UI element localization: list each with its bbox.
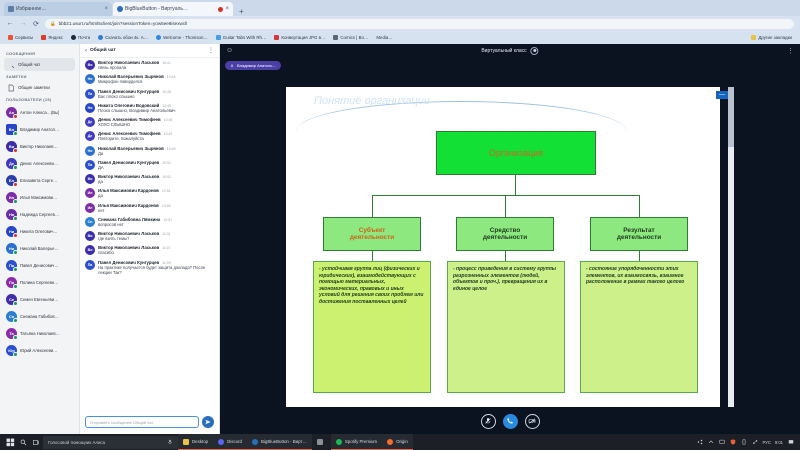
reload-icon[interactable]: ⟳	[32, 20, 40, 28]
chat-message-text: Повторите, пожалуйста	[98, 136, 214, 141]
chat-message-time: 10:45	[162, 90, 171, 94]
users-header: ПОЛЬЗОВАТЕЛИ (15)	[6, 97, 75, 102]
bookmark-item[interactable]: Яндекс	[37, 35, 67, 40]
avatar: Ни	[6, 243, 17, 254]
meeting-title-group: Виртуальный класс	[481, 47, 538, 55]
chat-message: НиНиколай Валерьевич Зырянов10:44Микрофо…	[85, 74, 214, 84]
user-name: Надежда Сергеев…	[20, 212, 59, 217]
taskbar-app-unlabeled[interactable]	[312, 434, 331, 450]
diagram-branch-node-3: Результатдеятельности	[590, 217, 688, 251]
chat-message-text: ХОХО СЛЫШНО	[98, 122, 214, 127]
meeting-controls	[220, 408, 800, 434]
monitor-icon[interactable]	[718, 439, 725, 446]
diagram-branch-node-2: Средстводеятельности	[456, 217, 554, 251]
avatar: Па	[85, 160, 95, 170]
chat-message-body: Павел Денисович Кунгурцев10:45Вас плохо …	[98, 89, 214, 99]
chat-message-body: Виктор Николаевич Ласьков11:01где взять …	[98, 231, 214, 241]
chat-message-text: ДА	[98, 165, 214, 170]
chat-message-time: 10:49	[167, 147, 176, 151]
browser-chrome: Избранное… × BigBlueButton - Виртуаль… ×…	[0, 0, 800, 44]
mic-on-icon	[13, 250, 18, 255]
taskbar-app-spotify[interactable]: Spotify Premium	[331, 434, 382, 450]
bookmark-item[interactable]: Конвертация JPG в…	[270, 35, 329, 40]
avatar: Де	[6, 158, 17, 169]
meeting-header: ☺ Виртуальный класс ⋮	[220, 44, 800, 57]
taskbar-app-label: Discord	[227, 439, 242, 444]
branch-label: Результатдеятельности	[617, 227, 661, 242]
chat-message: ВиВиктор Николаевич Ласьков10:41связь пр…	[85, 60, 214, 70]
task-view-icon[interactable]	[30, 439, 43, 446]
taskbar-app-label: BigBlueButton - Вирт…	[261, 439, 307, 444]
chat-message-sender: Павел Денисович Кунгурцев	[98, 260, 159, 265]
chat-title: Общий чат	[90, 48, 205, 53]
bookmark-icon	[216, 35, 221, 40]
chat-message-body: Павел Денисович Кунгурцев11:09На практик…	[98, 260, 214, 276]
chat-message-text: На практике получается будет защита докл…	[98, 265, 214, 276]
bookmark-icon	[41, 35, 46, 40]
sidebar-navigation: СООБЩЕНИЯ Общий чат ЗАМЕТКИ Общие заметк…	[0, 44, 80, 434]
mic-on-icon	[13, 165, 18, 170]
chat-message-sender: Илья Максимович Кардонов	[98, 188, 159, 193]
other-bookmarks-label: Другие закладки	[758, 35, 792, 40]
chat-message-body: Денис Алексеевич Тимофеев10:47Повторите,…	[98, 131, 214, 141]
mic-off-icon	[13, 148, 18, 153]
bookmark-icon	[333, 35, 338, 40]
user-list-item[interactable]: НаНадежда Сергеев…	[4, 206, 75, 223]
share-icon[interactable]	[696, 439, 703, 446]
user-name: Юрий Алексееви…	[20, 348, 57, 353]
bookmark-item[interactable]: Сервисы	[4, 35, 37, 40]
chat-message: ДеДенис Алексеевич Тимофеев10:47Повторит…	[85, 131, 214, 141]
user-list-item[interactable]: ТаТатьяна Николаев…	[4, 325, 75, 342]
app-icon	[317, 439, 323, 445]
chat-message-text: Вас плохо слышно	[98, 94, 214, 99]
taskbar-app-label: Origin	[396, 439, 408, 444]
connector-vertical	[639, 251, 640, 261]
taskbar-app-discord[interactable]: Discord	[213, 434, 247, 450]
chat-message-body: Денис Алексеевич Тимофеев10:46ХОХО СЛЫШН…	[98, 117, 214, 127]
system-tray: РУС 9:01	[696, 439, 797, 446]
user-name: Илья Максимови…	[20, 195, 57, 200]
taskbar-app-bigbluebutton[interactable]: BigBlueButton - Вирт…	[247, 434, 312, 450]
bbb-icon	[117, 6, 123, 12]
chat-composer: Отправить сообщение Общий чат	[80, 412, 219, 434]
talker-name: Владимир Анатоль…	[237, 63, 276, 68]
user-list-item[interactable]: ДеДенис Алексееви…	[4, 155, 75, 172]
audio-join-button[interactable]	[503, 414, 518, 429]
avatar: Де	[85, 131, 95, 141]
start-button[interactable]	[3, 438, 17, 447]
chat-message: ВиВиктор Николаевич Ласьков11:01где взят…	[85, 231, 214, 241]
slide-title: Понятие организации	[314, 95, 544, 107]
user-list-item[interactable]: СнСнежана Габибов…	[4, 308, 75, 325]
chat-message: ДеДенис Алексеевич Тимофеев10:46ХОХО СЛЫ…	[85, 117, 214, 127]
mic-off-icon	[13, 233, 18, 238]
chat-message-time: 11:07	[162, 246, 171, 250]
search-icon[interactable]	[17, 439, 30, 446]
avatar: Ви	[85, 245, 95, 255]
bookmark-icon	[274, 35, 279, 40]
bookmark-label: Яндекс	[48, 35, 63, 40]
bookmark-icon	[156, 35, 161, 40]
chat-message-time: 11:01	[162, 232, 171, 236]
user-name: Владимир Анатол…	[20, 127, 59, 132]
avatar: По	[6, 277, 17, 288]
tab-strip: Избранное… × BigBlueButton - Виртуаль… ×…	[0, 0, 800, 16]
chat-messages[interactable]: ВиВиктор Николаевич Ласьков10:41связь пр…	[80, 58, 219, 412]
avatar: Се	[6, 294, 17, 305]
chevron-up-icon[interactable]	[707, 439, 714, 446]
connector-vertical	[505, 251, 506, 261]
page-title: Виртуальный класс	[481, 48, 526, 54]
chat-panel: ‹ Общий чат ⋮ ВиВиктор Николаевич Ласько…	[80, 44, 220, 434]
mic-on-icon	[13, 335, 18, 340]
bookmark-label: Сервисы	[15, 35, 33, 40]
search-text: Голосовой помощник Алиса	[48, 440, 105, 445]
screen: Избранное… × BigBlueButton - Виртуаль… ×…	[0, 0, 800, 450]
chat-message-text: вопросов нет	[98, 222, 214, 227]
chat-message: СнСнежана Габибовна Лямкина10:57вопросов…	[85, 217, 214, 227]
mic-on-icon	[13, 267, 18, 272]
taskbar-app-label: Desktop	[192, 439, 208, 444]
sidebar-item-label: Общий чат	[18, 62, 40, 67]
bookmark-label: Guitar Tabs With Rh…	[223, 35, 267, 40]
sidebar-item-label: Общие заметки	[18, 85, 50, 90]
avatar: Па	[6, 260, 17, 271]
user-name: Виктор Николаев…	[20, 144, 58, 149]
taskbar-app-desktop[interactable]: Desktop	[178, 434, 213, 450]
chat-message-text: Да	[98, 151, 214, 156]
user-name: Николай Валерье…	[20, 246, 59, 251]
forward-icon[interactable]: →	[19, 20, 27, 27]
shield-icon[interactable]	[729, 439, 736, 446]
chat-options-icon[interactable]: ⋮	[208, 47, 214, 54]
folder-icon	[183, 439, 189, 445]
avatar: Ни	[85, 146, 95, 156]
chat-message: ПаПавел Денисович Кунгурцев11:09На практ…	[85, 260, 214, 276]
user-list-item[interactable]: АнАнтон Алекса…(Вы)	[4, 104, 75, 121]
chat-message-body: Николай Валерьевич Зырянов10:49Да	[98, 146, 214, 156]
mic-on-icon	[13, 284, 18, 289]
bbb-icon	[252, 439, 258, 445]
record-icon[interactable]	[531, 47, 539, 55]
chat-message-text: нет	[98, 208, 214, 213]
clock[interactable]: 9:01	[775, 440, 783, 445]
bookmark-icon	[71, 35, 76, 40]
avatar: Ил	[6, 192, 17, 203]
avatar: Ви	[85, 60, 95, 70]
microphone-icon	[230, 64, 234, 68]
connector-vertical	[639, 195, 640, 217]
chat-header: ‹ Общий чат ⋮	[80, 44, 219, 58]
chat-message-text: да	[98, 193, 214, 198]
taskbar-app-label: Spotify Premium	[345, 439, 377, 444]
meeting-options-icon[interactable]: ⋮	[787, 47, 794, 55]
presentation-scrollbar[interactable]	[728, 87, 734, 407]
mic-on-icon	[13, 199, 18, 204]
chat-message-body: Виктор Николаевич Ласьков11:07спасибо	[98, 245, 214, 255]
bookmark-icon	[8, 35, 13, 40]
user-list: АнАнтон Алекса…(Вы)ВлВладимир Анатол…ВиВ…	[4, 104, 75, 359]
origin-icon	[387, 439, 393, 445]
other-bookmarks-button[interactable]: Другие закладки	[747, 35, 796, 40]
avatar: Та	[6, 328, 17, 339]
user-list-item[interactable]: ЮрЮрий Алексееви…	[4, 342, 75, 359]
avatar: Сн	[6, 311, 17, 322]
avatar: Ни	[6, 226, 17, 237]
chat-message-body: Павел Денисович Кунгурцев10:51ДА	[98, 160, 214, 170]
chat-message: ПаПавел Денисович Кунгурцев10:51ДА	[85, 160, 214, 170]
avatar: Па	[85, 89, 95, 99]
chat-message-body: Никита Олегович Водовский10:45Плохо слыш…	[98, 103, 214, 113]
back-icon[interactable]: ‹	[85, 48, 87, 54]
diagram-description-3: - состояние упорядоченности этих элемент…	[580, 261, 698, 393]
user-add-icon[interactable]: ☺	[226, 47, 233, 54]
avatar: Ви	[85, 174, 95, 184]
avatar: Ви	[85, 231, 95, 241]
user-name: Полина Сергеевн…	[20, 280, 58, 285]
connector-vertical	[372, 251, 373, 261]
bookmark-label: Скачать обои 4к. А…	[105, 35, 148, 40]
chat-message-sender: Виктор Николаевич Ласьков	[98, 174, 159, 179]
chat-message-body: Николай Валерьевич Зырянов10:44Микрофон …	[98, 74, 214, 84]
user-list-item[interactable]: НиНиколай Валерье…	[4, 240, 75, 257]
url-text: bbb21.usurt.ru/html5client/join?sessionT…	[59, 21, 188, 26]
close-icon[interactable]: ×	[225, 6, 229, 12]
bookmark-icon	[98, 35, 103, 40]
microphone-muted-button[interactable]	[481, 414, 496, 429]
chat-message-text: Микрофон поверделся	[98, 79, 214, 84]
bookmarks-bar: Сервисы Яндекс Почта Скачать обои 4к. А……	[0, 31, 800, 44]
chat-message: ИлИлья Максимович Кардонов10:51да	[85, 188, 214, 198]
bookmark-item[interactable]: Media…	[372, 35, 396, 40]
connector-vertical	[505, 195, 506, 217]
user-name: Павел Денисович…	[20, 263, 59, 268]
user-list-item[interactable]: ЕлЕлизавета Сергe…	[4, 172, 75, 189]
bookmark-item[interactable]: Comics | Bo…	[329, 35, 372, 40]
avatar: Вл	[6, 124, 17, 135]
chat-message-time: 10:57	[163, 218, 172, 222]
sidebar-item-shared-notes[interactable]: Общие заметки	[4, 81, 75, 94]
browser-toolbar: ← → ⟳ 🔒 bbb21.usurt.ru/html5client/join?…	[0, 16, 800, 31]
taskbar-app-origin[interactable]: Origin	[382, 434, 413, 450]
user-name: Елизавета Сергe…	[20, 178, 57, 183]
meeting-stage: ☺ Виртуальный класс ⋮ Владимир Анатоль… …	[220, 44, 800, 434]
windows-taskbar: Голосовой помощник Алиса Desktop Discord…	[0, 434, 800, 450]
avatar: На	[6, 209, 17, 220]
close-icon[interactable]: ×	[104, 6, 108, 12]
bookmark-label: Media…	[376, 35, 392, 40]
mic-off-icon	[484, 417, 492, 425]
bookmark-item[interactable]: Скачать обои 4к. А…	[94, 35, 152, 40]
chat-message-input[interactable]: Отправить сообщение Общий чат	[85, 416, 199, 428]
avatar: Ел	[6, 175, 17, 186]
diagram-branch-node-1: Субъектдеятельности	[323, 217, 421, 251]
chat-message: ВиВиктор Николаевич Ласьков10:51да	[85, 174, 214, 184]
chat-message-body: Виктор Николаевич Ласьков10:51да	[98, 174, 214, 184]
sidebar-item-public-chat[interactable]: Общий чат	[4, 58, 75, 71]
send-icon	[205, 419, 211, 425]
avatar: Ни	[85, 74, 95, 84]
new-tab-button[interactable]: +	[234, 7, 249, 16]
bookmark-item[interactable]: Welcome - Thomson…	[152, 35, 212, 40]
tab-title: BigBlueButton - Виртуаль…	[125, 6, 216, 12]
diagram-root-node: Организация	[436, 131, 596, 175]
chat-message-time: 10:47	[164, 132, 173, 136]
user-list-item[interactable]: ПаПавел Денисович…	[4, 257, 75, 274]
folder-icon	[751, 35, 756, 40]
user-list-item[interactable]: ВиВиктор Николаев…	[4, 138, 75, 155]
chat-icon	[7, 61, 15, 69]
chat-message-sender: Павел Денисович Кунгурцев	[98, 89, 159, 94]
avatar: Ан	[6, 107, 17, 118]
notes-icon	[7, 84, 15, 92]
avatar: Юр	[6, 345, 17, 356]
active-talker-badge: Владимир Анатоль…	[225, 61, 281, 70]
browser-tab-2[interactable]: BigBlueButton - Виртуаль… ×	[113, 2, 233, 16]
user-list-item[interactable]: ПоПолина Сергеевн…	[4, 274, 75, 291]
alice-search-box[interactable]: Голосовой помощник Алиса	[43, 436, 178, 449]
bookmark-label: Конвертация JPG в…	[281, 35, 325, 40]
address-bar[interactable]: 🔒 bbb21.usurt.ru/html5client/join?sessio…	[45, 19, 794, 29]
bookmark-label: Почта	[78, 35, 90, 40]
microphone-icon[interactable]	[167, 439, 173, 446]
messages-header: СООБЩЕНИЯ	[6, 51, 75, 56]
notes-header: ЗАМЕТКИ	[6, 74, 75, 79]
branch-label: Средстводеятельности	[483, 227, 527, 242]
chat-message-time: 10:51	[162, 189, 171, 193]
camera-off-icon	[528, 417, 536, 425]
chat-message-text: где взять темы?	[98, 236, 214, 241]
chat-message-body: Виктор Николаевич Ласьков10:41связь проп…	[98, 60, 214, 70]
chat-message: ВиВиктор Николаевич Ласьков11:07спасибо	[85, 245, 214, 255]
mic-on-icon	[13, 318, 18, 323]
chat-message-time: 10:46	[164, 118, 173, 122]
chat-message-sender: Илья Максимович Кардонов	[98, 203, 159, 208]
minimize-presentation-button[interactable]: —	[716, 91, 728, 99]
presentation-slide[interactable]: Понятие организации Организация Субъектд…	[286, 87, 720, 407]
lock-icon: 🔒	[50, 21, 56, 27]
bookmark-item[interactable]: Guitar Tabs With Rh…	[212, 35, 271, 40]
mic-on-icon	[13, 301, 18, 306]
chat-message: ПаПавел Денисович Кунгурцев10:45Вас плох…	[85, 89, 214, 99]
avatar: Сн	[85, 217, 95, 227]
mic-on-icon	[13, 131, 18, 136]
chat-message-time: 11:09	[162, 261, 171, 265]
chat-message-body: Снежана Габибовна Лямкина10:57вопросов н…	[98, 217, 214, 227]
battery-icon[interactable]	[740, 439, 747, 446]
connector-vertical	[372, 195, 373, 217]
presentation-area: Понятие организации Организация Субъектд…	[220, 57, 800, 408]
phone-icon	[506, 417, 514, 425]
avatar: Ви	[6, 141, 17, 152]
network-icon[interactable]	[751, 439, 758, 446]
chat-message: ИлИлья Максимович Кардонов10:55нет	[85, 203, 214, 213]
user-name: Антон Алекса…(Вы)	[20, 110, 59, 115]
chat-message-time: 10:51	[162, 175, 171, 179]
chat-message-sender: Павел Денисович Кунгурцев	[98, 160, 159, 165]
mic-off-icon	[13, 114, 18, 119]
mic-on-icon	[13, 216, 18, 221]
avatar: Ил	[85, 188, 95, 198]
chat-message-body: Илья Максимович Кардонов10:55нет	[98, 203, 214, 213]
user-list-item[interactable]: СеСемен Евгеньеви…	[4, 291, 75, 308]
user-name: Семен Евгеньеви…	[20, 297, 58, 302]
user-name: Никита Олегович…	[20, 229, 58, 234]
bookmark-item[interactable]: Почта	[67, 35, 94, 40]
back-icon[interactable]: ←	[6, 20, 14, 27]
avatar: Де	[85, 117, 95, 127]
chat-message-text: спасибо	[98, 250, 214, 255]
diagram-description-2: - процесс приведения в систему группы ра…	[447, 261, 565, 393]
mic-on-icon	[13, 352, 18, 357]
camera-off-button[interactable]	[525, 414, 540, 429]
language-indicator[interactable]: РУС	[762, 440, 770, 445]
chat-message-time: 10:41	[162, 61, 171, 65]
chat-message: НиНикита Олегович Водовский10:45Плохо сл…	[85, 103, 214, 113]
avatar: Ни	[85, 103, 95, 113]
user-name: Татьяна Николаев…	[20, 331, 60, 336]
connector-vertical	[515, 175, 516, 195]
chat-message-text: Плохо слышно, Владимир Анатольевич	[98, 108, 214, 113]
chat-message-sender: Николай Валерьевич Зырянов	[98, 146, 164, 151]
user-list-item[interactable]: НиНикита Олегович…	[4, 223, 75, 240]
chat-message-text: да	[98, 179, 214, 184]
bookmark-label: Comics | Bo…	[340, 35, 368, 40]
chat-message-text: связь пропала	[98, 65, 214, 70]
spotify-icon	[336, 439, 342, 445]
chat-message-body: Илья Максимович Кардонов10:51да	[98, 188, 214, 198]
user-name: Денис Алексееви…	[20, 161, 58, 166]
windows-icon	[6, 438, 15, 447]
chat-message-time: 10:44	[167, 75, 176, 79]
bookmark-label: Welcome - Thomson…	[163, 35, 208, 40]
mic-off-icon	[13, 182, 18, 187]
page-icon	[8, 6, 14, 12]
chat-message-time: 10:51	[162, 161, 171, 165]
avatar: Па	[85, 260, 95, 270]
chat-message-time: 10:55	[162, 204, 171, 208]
notification-icon[interactable]	[787, 439, 794, 446]
bigbluebutton-app: СООБЩЕНИЯ Общий чат ЗАМЕТКИ Общие заметк…	[0, 44, 800, 434]
send-message-button[interactable]	[202, 416, 214, 428]
user-list-item[interactable]: ИлИлья Максимови…	[4, 189, 75, 206]
discord-icon	[218, 439, 224, 445]
diagram-description-1: - устойчивая группа лиц (физических и юр…	[313, 261, 431, 393]
user-list-item[interactable]: ВлВладимир Анатол…	[4, 121, 75, 138]
branch-label: Субъектдеятельности	[350, 227, 394, 242]
avatar: Ил	[85, 203, 95, 213]
user-name: Снежана Габибов…	[20, 314, 59, 319]
recording-indicator-icon	[218, 7, 223, 12]
chat-message: НиНиколай Валерьевич Зырянов10:49Да	[85, 146, 214, 156]
tab-title: Избранное…	[16, 6, 102, 12]
browser-tab-1[interactable]: Избранное… ×	[4, 2, 112, 16]
